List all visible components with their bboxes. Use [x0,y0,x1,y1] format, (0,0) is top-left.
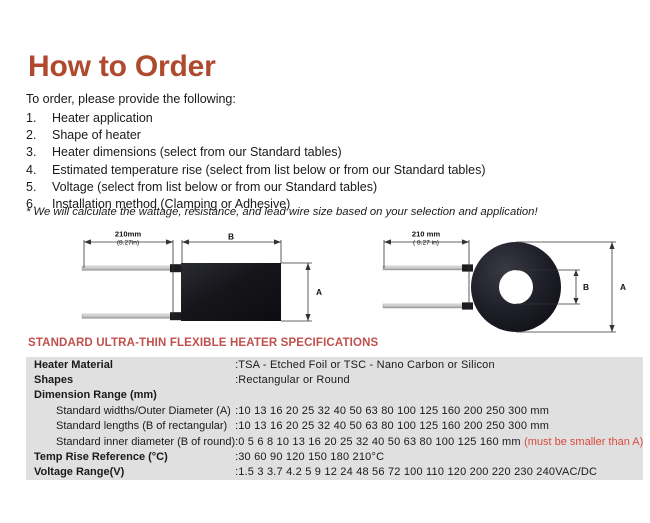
rectangular-heater-diagram: 210mm (8.27in) B A [60,228,340,338]
heater-diagrams: 210mm (8.27in) B A [0,228,650,338]
order-steps-list: 1. Heater application 2. Shape of heater… [26,110,626,213]
list-item-label: Heater dimensions (select from our Stand… [52,144,626,161]
list-item-label: Estimated temperature rise (select from … [52,162,626,179]
list-item-number: 5. [26,179,52,196]
list-item-number: 2. [26,127,52,144]
row-value-text: 10 13 16 20 25 32 40 50 63 80 100 125 16… [238,405,549,417]
row-value: 1.5 3 3.7 4.2 5 9 12 24 48 56 72 100 110… [238,465,643,480]
list-item: 4. Estimated temperature rise (select fr… [26,162,626,179]
list-item-label: Heater application [52,110,626,127]
spec-section-header: STANDARD ULTRA-THIN FLEXIBLE HEATER SPEC… [28,337,378,349]
list-item-label: Shape of heater [52,127,626,144]
round-lead-length-mm: 210 mm [412,229,441,238]
rect-lead-length-in: (8.27in) [117,240,139,247]
table-row: Standard lengths (B of rectangular) : 10… [26,419,643,434]
row-label: Shapes [26,372,235,387]
row-value: TSA - Etched Foil or TSC - Nano Carbon o… [238,357,643,372]
list-item: 2. Shape of heater [26,127,626,144]
list-item-label: Voltage (select from list below or from … [52,179,626,196]
rect-width-label: B [228,232,234,242]
row-value-text: Rectangular or Round [238,374,350,386]
row-value-text: 10 13 16 20 25 32 40 50 63 80 100 125 16… [238,420,549,432]
row-value-text: 30 60 90 120 150 180 210°C [238,451,384,463]
round-heater-diagram: 210 mm ( 8.27 in) B A [368,228,638,338]
row-value-text: 0 5 6 8 10 13 16 20 25 32 40 50 63 80 10… [238,436,521,448]
row-label: Heater Material [26,357,235,372]
table-row: Voltage Range(V) : 1.5 3 3.7 4.2 5 9 12 … [26,465,643,480]
row-value: 0 5 6 8 10 13 16 20 25 32 40 50 63 80 10… [238,434,643,449]
row-value [238,388,643,403]
table-row: Heater Material : TSA - Etched Foil or T… [26,357,643,372]
intro-text: To order, please provide the following: [26,92,236,106]
row-value: Rectangular or Round [238,372,643,387]
row-label: Dimension Range (mm) [26,388,235,403]
calculation-note: * We will calculate the wattage, resista… [26,206,538,218]
list-item-number: 1. [26,110,52,127]
row-label: Standard lengths (B of rectangular) [26,419,235,434]
row-label: Standard widths/Outer Diameter (A) [26,403,235,418]
row-label: Temp Rise Reference (°C) [26,449,235,464]
round-inner-diameter-label: B [583,282,589,292]
table-row: Shapes : Rectangular or Round [26,372,643,387]
table-row: Temp Rise Reference (°C) : 30 60 90 120 … [26,449,643,464]
table-row: Standard widths/Outer Diameter (A) : 10 … [26,403,643,418]
row-value-text: 1.5 3 3.7 4.2 5 9 12 24 48 56 72 100 110… [238,466,597,478]
list-item: 3. Heater dimensions (select from our St… [26,144,626,161]
list-item: 1. Heater application [26,110,626,127]
list-item-number: 3. [26,144,52,161]
row-value: 10 13 16 20 25 32 40 50 63 80 100 125 16… [238,419,643,434]
specifications-table: Heater Material : TSA - Etched Foil or T… [26,357,643,480]
page-title: How to Order [28,50,216,84]
round-outer-diameter-label: A [620,282,626,292]
row-label: Voltage Range(V) [26,465,235,480]
rect-height-label: A [316,287,322,297]
list-item-number: 4. [26,162,52,179]
list-item: 5. Voltage (select from list below or fr… [26,179,626,196]
row-value-note: (must be smaller than A) [524,436,643,448]
rect-lead-length-mm: 210mm [115,229,141,238]
row-value: 10 13 16 20 25 32 40 50 63 80 100 125 16… [238,403,643,418]
table-row: Standard inner diameter (B of round) : 0… [26,434,643,449]
row-value-text: TSA - Etched Foil or TSC - Nano Carbon o… [238,359,495,371]
row-label: Standard inner diameter (B of round) [26,434,235,449]
row-value: 30 60 90 120 150 180 210°C [238,449,643,464]
table-row: Dimension Range (mm) [26,388,643,403]
round-lead-length-in: ( 8.27 in) [413,240,439,247]
